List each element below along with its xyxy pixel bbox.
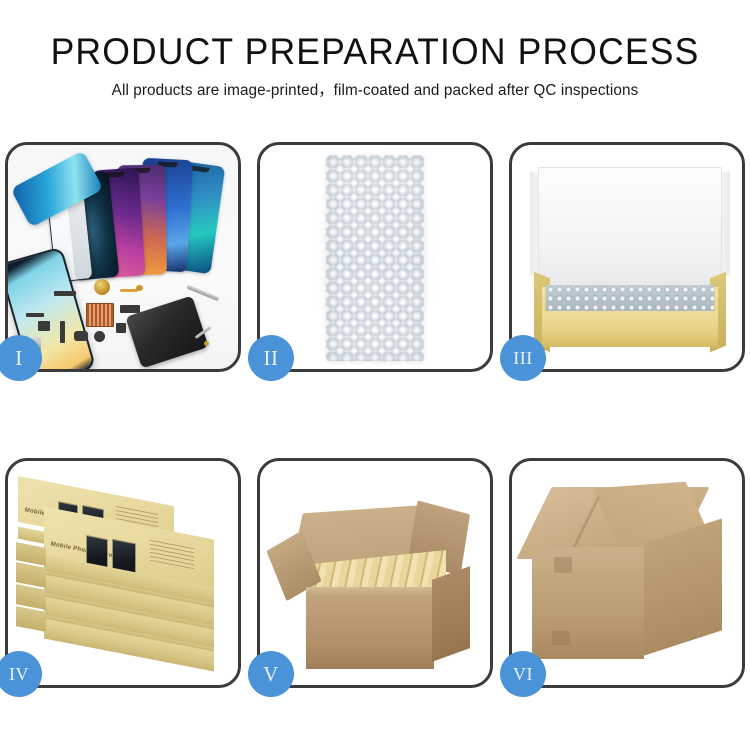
carton-front-face <box>306 595 434 669</box>
flex-strip-part-icon <box>120 305 140 313</box>
spare-parts-cluster <box>8 145 238 369</box>
bubble-wrap-icon <box>326 155 424 361</box>
process-step-grid: I II III <box>5 142 745 688</box>
process-step-4: Mobile Phone Spare Parts Mobile Phone Sp… <box>5 458 241 688</box>
carton-side-face <box>432 566 470 662</box>
sealed-carton-front-face <box>532 547 644 659</box>
screw-part-icon <box>204 341 209 346</box>
process-step-5: V <box>257 458 493 688</box>
step-badge-2: II <box>248 335 294 381</box>
ic-chip-part-icon <box>116 323 126 333</box>
process-step-3: III <box>509 142 745 372</box>
bubble-wrap-inside-box-icon <box>546 285 714 313</box>
step-badge-5: V <box>248 651 294 697</box>
lens-part-icon <box>94 331 105 342</box>
mailer-lid-icon <box>538 167 722 287</box>
step-5-image <box>260 461 490 685</box>
header: PRODUCT PREPARATION PROCESS All products… <box>0 30 750 102</box>
sealed-carton-tape-mark <box>552 631 570 645</box>
process-step-2: II <box>257 142 493 372</box>
step-6-image <box>512 461 742 685</box>
flex-cable-part-icon <box>120 289 138 292</box>
camera-module-part-icon <box>74 331 88 341</box>
page-subtitle: All products are image-printed，film-coat… <box>6 80 745 102</box>
step-badge-3: III <box>500 335 546 381</box>
sealed-carton-side-face <box>644 518 722 655</box>
product-preparation-infographic: PRODUCT PREPARATION PROCESS All products… <box>0 0 750 750</box>
screw-part-icon <box>136 285 143 291</box>
kraft-box-left-edge <box>16 606 46 632</box>
step-badge-6: VI <box>500 651 546 697</box>
connector-grid-part-icon <box>86 303 114 327</box>
mailer-tray-front <box>542 311 718 347</box>
flex-strip-part-icon <box>26 313 44 317</box>
step-4-image: Mobile Phone Spare Parts Mobile Phone Sp… <box>8 461 238 685</box>
step-badge-4: IV <box>0 651 42 697</box>
process-step-6: VI <box>509 458 745 688</box>
step-2-image <box>260 145 490 369</box>
flex-strip-part-icon <box>54 291 76 296</box>
step-badge-1: I <box>0 335 42 381</box>
page-title: PRODUCT PREPARATION PROCESS <box>15 30 735 74</box>
step-1-image <box>8 145 238 369</box>
step-3-image <box>512 145 742 369</box>
camera-module-part-icon <box>38 321 50 331</box>
speaker-part-icon <box>94 279 110 295</box>
process-step-1: I <box>5 142 241 372</box>
sealed-carton-tape-mark <box>554 557 572 573</box>
flex-cable-part-icon <box>60 321 65 343</box>
